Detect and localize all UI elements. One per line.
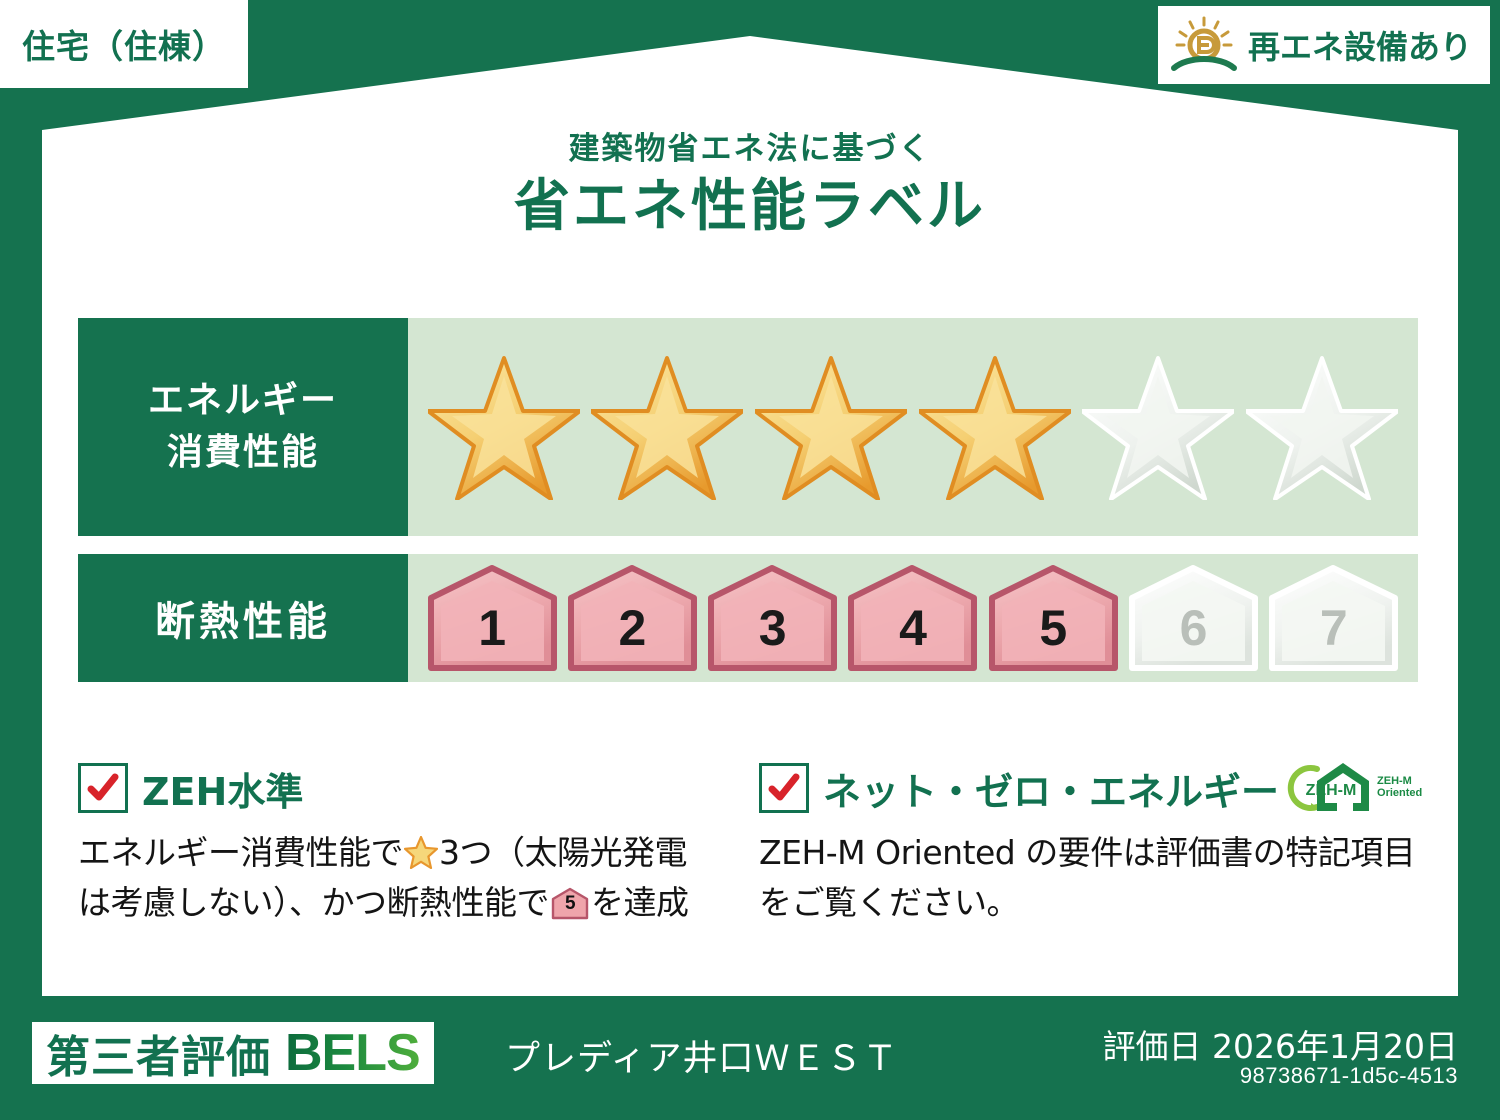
zeh-body-text-3: は考慮しない）、かつ断熱性能で bbox=[78, 883, 549, 922]
house-badge-number: 2 bbox=[568, 599, 697, 657]
house-badge-number: 7 bbox=[1269, 599, 1398, 657]
energy-star-meter bbox=[408, 318, 1418, 536]
star-icon-filled bbox=[428, 354, 580, 500]
house-badge-filled: 2 bbox=[568, 565, 697, 671]
bels-logo-text: BELS bbox=[285, 1023, 420, 1083]
zeh-standard-checkbox[interactable] bbox=[78, 763, 128, 813]
house-badge-filled: 5 bbox=[989, 565, 1118, 671]
evaluation-id: 98738671-1d5c-4513 bbox=[1240, 1063, 1458, 1089]
net-zero-title: ネット・ゼロ・エネルギー bbox=[823, 761, 1279, 816]
zeh-m-logo-icon: ZEH-M bbox=[1287, 757, 1373, 819]
zeh-body-text-2: 3つ（太陽光発電 bbox=[439, 833, 687, 872]
zeh-m-logo-caption: ZEH-M Oriented bbox=[1377, 776, 1422, 799]
net-zero-checkbox[interactable] bbox=[759, 763, 809, 813]
ratings-section: エネルギー 消費性能 断熱性能 1234567 bbox=[78, 318, 1418, 682]
star-icon-filled bbox=[919, 354, 1071, 500]
house-badge-empty: 7 bbox=[1269, 565, 1398, 671]
zeh-standard-header: ZEH水準 bbox=[78, 762, 747, 814]
house-badge-number: 4 bbox=[848, 599, 977, 657]
house-badge-filled: 3 bbox=[708, 565, 837, 671]
title-subtitle: 建築物省エネ法に基づく bbox=[0, 132, 1500, 166]
star-icon-empty bbox=[1246, 354, 1398, 500]
inline-star-icon bbox=[404, 836, 438, 869]
energy-rating-row: エネルギー 消費性能 bbox=[78, 318, 1418, 536]
star-icon-empty bbox=[1082, 354, 1234, 500]
title-block: 建築物省エネ法に基づく 省エネ性能ラベル bbox=[0, 132, 1500, 238]
inline-house-number: 5 bbox=[551, 890, 589, 919]
solar-sun-icon bbox=[1168, 14, 1240, 76]
energy-rating-label: エネルギー 消費性能 bbox=[78, 318, 408, 536]
building-type-label: 住宅（住棟） bbox=[22, 20, 226, 68]
star-icon-filled bbox=[755, 354, 907, 500]
zeh-standard-title: ZEH水準 bbox=[142, 761, 303, 816]
insulation-rating-label: 断熱性能 bbox=[78, 554, 408, 682]
house-badge-number: 1 bbox=[428, 599, 557, 657]
building-name: プレディア井口ＷＥＳＴ bbox=[505, 1030, 899, 1081]
info-section: ZEH水準 エネルギー消費性能で 3つ（太陽光発電 は考慮しない）、かつ断熱性能… bbox=[78, 762, 1428, 928]
zeh-m-caption-line2: Oriented bbox=[1377, 788, 1422, 800]
bels-badge: 第三者評価 BELS bbox=[32, 1022, 434, 1084]
footer-bar: 第三者評価 BELS プレディア井口ＷＥＳＴ 評価日 2026年1月20日 98… bbox=[0, 1008, 1500, 1120]
third-party-label: 第三者評価 bbox=[46, 1021, 271, 1085]
house-badge-number: 6 bbox=[1129, 599, 1258, 657]
house-badge-filled: 4 bbox=[848, 565, 977, 671]
insulation-label-text: 断熱性能 bbox=[155, 589, 331, 647]
star-icon-filled bbox=[591, 354, 743, 500]
check-icon bbox=[87, 772, 119, 804]
house-badge-empty: 6 bbox=[1129, 565, 1258, 671]
house-badge-number: 5 bbox=[989, 599, 1118, 657]
building-type-badge: 住宅（住棟） bbox=[0, 0, 248, 88]
insulation-house-meter: 1234567 bbox=[408, 554, 1418, 682]
zeh-body-text-4: を達成 bbox=[591, 883, 689, 922]
net-zero-header: ネット・ゼロ・エネルギー ZEH-M ZEH-M Oriented bbox=[759, 762, 1428, 814]
energy-label-line1: エネルギー bbox=[148, 375, 338, 427]
zeh-standard-body: エネルギー消費性能で 3つ（太陽光発電 は考慮しない）、かつ断熱性能で 5 を達… bbox=[78, 828, 747, 928]
energy-label-line2: 消費性能 bbox=[148, 427, 338, 479]
check-icon bbox=[768, 772, 800, 804]
evaluation-date: 評価日 2026年1月20日 bbox=[1103, 1020, 1458, 1068]
renewable-energy-label: 再エネ設備あり bbox=[1248, 22, 1472, 68]
house-badge-number: 3 bbox=[708, 599, 837, 657]
house-badge-filled: 1 bbox=[428, 565, 557, 671]
net-zero-block: ネット・ゼロ・エネルギー ZEH-M ZEH-M Oriented ZEH-M … bbox=[759, 762, 1428, 928]
svg-text:ZEH-M: ZEH-M bbox=[1306, 782, 1357, 799]
page-title: 省エネ性能ラベル bbox=[0, 176, 1500, 238]
insulation-rating-row: 断熱性能 1234567 bbox=[78, 554, 1418, 682]
renewable-energy-badge: 再エネ設備あり bbox=[1158, 6, 1490, 84]
inline-house-icon: 5 bbox=[551, 887, 589, 920]
zeh-body-text-1: エネルギー消費性能で bbox=[78, 833, 403, 872]
zeh-standard-block: ZEH水準 エネルギー消費性能で 3つ（太陽光発電 は考慮しない）、かつ断熱性能… bbox=[78, 762, 747, 928]
net-zero-body: ZEH-M Oriented の要件は評価書の特記項目をご覧ください。 bbox=[759, 828, 1428, 928]
